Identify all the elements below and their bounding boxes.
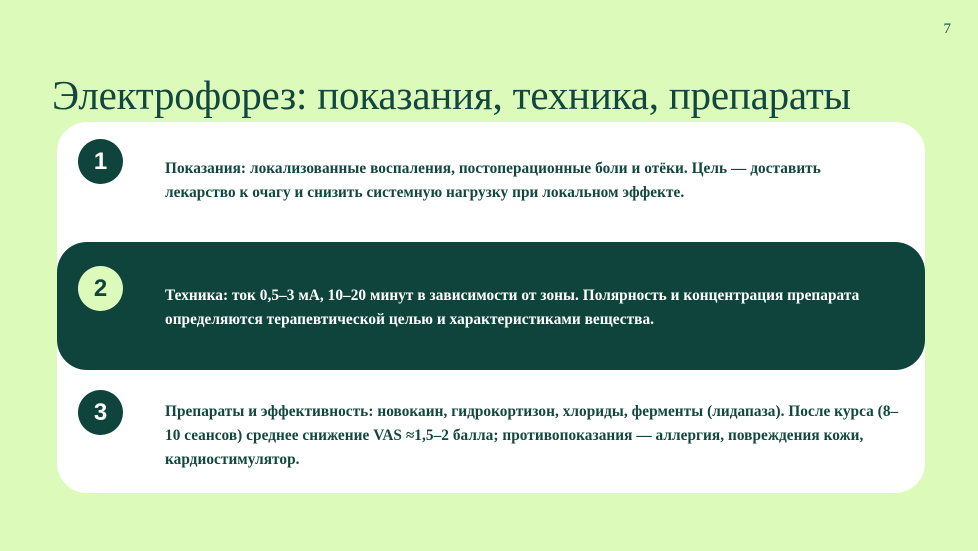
page-title: Электрофорез: показания, техника, препар…: [52, 69, 851, 121]
highlighted-card: 2 Техника: ток 0,5–3 мА, 10–20 минут в з…: [57, 242, 925, 370]
step-badge-2: 2: [78, 266, 123, 311]
list-item-text-2: Техника: ток 0,5–3 мА, 10–20 минут в зав…: [165, 284, 905, 332]
list-item-text-3: Препараты и эффективность: новокаин, гид…: [165, 400, 905, 472]
slide: 7 Электрофорез: показания, техника, преп…: [0, 0, 978, 551]
page-number: 7: [944, 22, 952, 37]
list-item-text-1: Показания: локализованные воспаления, по…: [165, 157, 895, 205]
step-badge-1: 1: [78, 139, 123, 184]
step-badge-3: 3: [78, 390, 123, 435]
